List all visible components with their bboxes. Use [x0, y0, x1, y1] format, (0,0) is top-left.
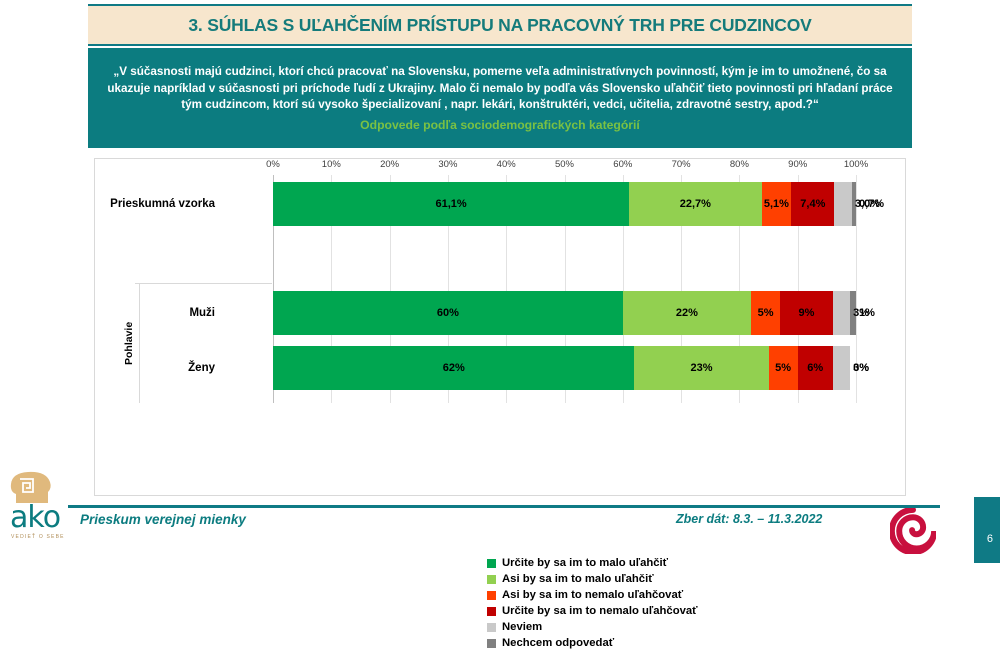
bar-segment-label: 5% — [775, 362, 791, 374]
axis-tick-label: 20% — [380, 159, 399, 170]
axis-tick-label: 0% — [266, 159, 280, 170]
bar-segment-label: 62% — [443, 362, 465, 374]
stacked-bar: 60%22%5%9% — [273, 291, 856, 335]
bar-segment-label: 23% — [690, 362, 712, 374]
category-label: Ženy — [188, 362, 215, 374]
spiral-logo-icon — [890, 508, 936, 554]
stacked-bar: 61,1%22,7%5,1%7,4% — [273, 182, 856, 226]
ako-wordmark: ako — [10, 500, 60, 535]
bar-segment: 7,4% — [791, 182, 834, 226]
legend-swatch — [487, 559, 496, 568]
legend-swatch — [487, 575, 496, 584]
chart-x-axis: 0%10%20%30%40%50%60%70%80%90%100% — [95, 159, 905, 175]
bar-segment: 62% — [273, 346, 634, 390]
category-group-label: Pohlavie — [123, 287, 135, 399]
bar-segment: 23% — [634, 346, 768, 390]
legend-item[interactable]: Asi by sa im to malo uľahčiť — [487, 571, 698, 587]
slide-title-bar: 3. SÚHLAS S UĽAHČENÍM PRÍSTUPU NA PRACOV… — [88, 4, 912, 46]
legend-label: Asi by sa im to nemalo uľahčovať — [502, 589, 683, 601]
axis-tick-label: 40% — [497, 159, 516, 170]
bar-segment-label: 6% — [807, 362, 823, 374]
category-label: Muži — [189, 307, 215, 319]
category-group-separator — [135, 283, 272, 284]
ako-tagline: VEDIEŤ O SEBE — [11, 534, 65, 540]
legend-item[interactable]: Neviem — [487, 619, 698, 635]
bar-segment — [833, 291, 850, 335]
axis-tick-label: 70% — [672, 159, 691, 170]
question-text: „V súčasnosti majú cudzinci, ktorí chcú … — [106, 64, 894, 114]
legend-label: Určite by sa im to malo uľahčiť — [502, 557, 668, 569]
legend-label: Určite by sa im to nemalo uľahčovať — [502, 605, 698, 617]
bar-segment: 22,7% — [629, 182, 761, 226]
bar-segment — [834, 182, 851, 226]
chart-plot-area: PohlaviePrieskumná vzorka61,1%22,7%5,1%7… — [95, 175, 905, 403]
bar-segment — [833, 346, 850, 390]
axis-tick-label: 10% — [322, 159, 341, 170]
slide: 3. SÚHLAS S UĽAHČENÍM PRÍSTUPU NA PRACOV… — [0, 0, 1000, 563]
bar-segment-label: 5,1% — [764, 198, 789, 210]
bar-segment: 6% — [798, 346, 833, 390]
legend-item[interactable]: Asi by sa im to nemalo uľahčovať — [487, 587, 698, 603]
category-label: Prieskumná vzorka — [110, 198, 215, 210]
stacked-bar: 62%23%5%6% — [273, 346, 856, 390]
bar-segment: 61,1% — [273, 182, 629, 226]
legend-swatch — [487, 607, 496, 616]
bar-segment: 5% — [769, 346, 798, 390]
footer-divider — [68, 505, 940, 508]
axis-tick-label: 60% — [613, 159, 632, 170]
legend-swatch — [487, 623, 496, 632]
legend-item[interactable]: Nechcem odpovedať — [487, 635, 698, 651]
bar-segment-label: 1% — [859, 307, 875, 319]
bar-segment-label: 5% — [758, 307, 774, 319]
chart-panel: 0%10%20%30%40%50%60%70%80%90%100% Pohlav… — [94, 158, 906, 496]
bar-segment-label: 7,4% — [800, 198, 825, 210]
question-subtitle: Odpovede podľa sociodemografických kateg… — [360, 118, 640, 132]
axis-tick-label: 80% — [730, 159, 749, 170]
bar-segment-label: 22% — [676, 307, 698, 319]
legend-label: Neviem — [502, 621, 542, 633]
bar-segment-label: 22,7% — [680, 198, 711, 210]
bar-segment-label: 0,7% — [859, 198, 884, 210]
bar-segment: 5% — [751, 291, 780, 335]
ako-head-icon — [8, 470, 72, 504]
page-number: 6 — [987, 533, 993, 545]
chart-legend: Určite by sa im to malo uľahčiťAsi by sa… — [487, 555, 698, 651]
question-box: „V súčasnosti majú cudzinci, ktorí chcú … — [88, 48, 912, 148]
bar-segment-label: 0% — [853, 362, 869, 374]
ako-logo: ako VEDIEŤ O SEBE — [8, 470, 72, 554]
page-title: 3. SÚHLAS S UĽAHČENÍM PRÍSTUPU NA PRACOV… — [188, 15, 811, 36]
legend-swatch — [487, 591, 496, 600]
bar-segment: 5,1% — [762, 182, 792, 226]
legend-label: Asi by sa im to malo uľahčiť — [502, 573, 654, 585]
axis-tick-label: 50% — [555, 159, 574, 170]
bar-segment: 9% — [780, 291, 832, 335]
bar-segment: 60% — [273, 291, 623, 335]
bar-segment-label: 61,1% — [436, 198, 467, 210]
legend-item[interactable]: Určite by sa im to malo uľahčiť — [487, 555, 698, 571]
page-number-tab — [974, 497, 1000, 563]
bar-segment: 22% — [623, 291, 751, 335]
axis-tick-label: 90% — [788, 159, 807, 170]
footer-date: Zber dát: 8.3. – 11.3.2022 — [676, 512, 822, 526]
legend-item[interactable]: Určite by sa im to nemalo uľahčovať — [487, 603, 698, 619]
bar-segment-label: 60% — [437, 307, 459, 319]
bar-segment-label: 9% — [798, 307, 814, 319]
axis-tick-label: 30% — [438, 159, 457, 170]
axis-tick-label: 100% — [844, 159, 868, 170]
category-axis-line — [139, 283, 140, 403]
legend-swatch — [487, 639, 496, 648]
footer-caption: Prieskum verejnej mienky — [80, 512, 246, 527]
legend-label: Nechcem odpovedať — [502, 637, 614, 649]
